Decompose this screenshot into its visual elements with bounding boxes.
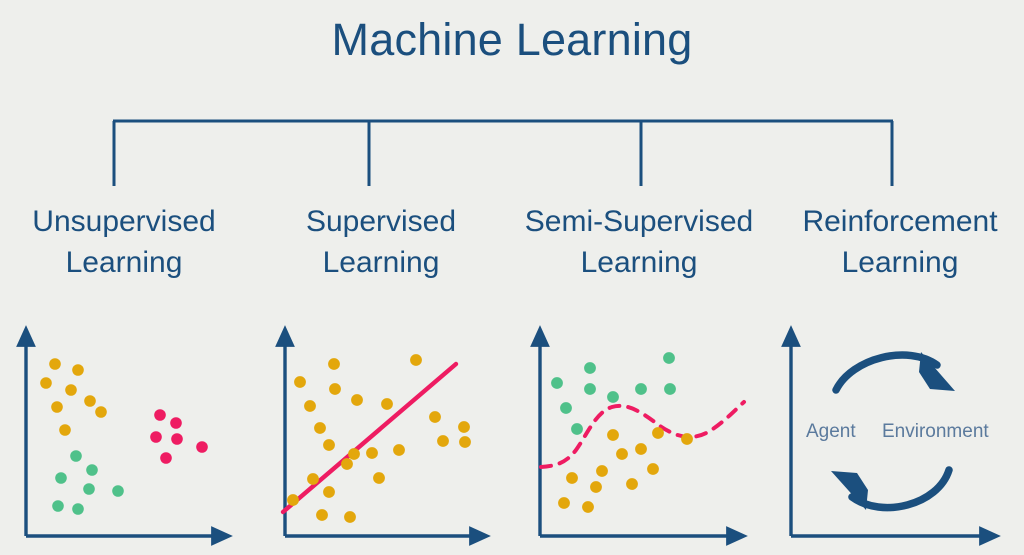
cycle-arrow-top [836, 352, 955, 391]
regression-points [287, 354, 471, 523]
semi-points-green [551, 352, 676, 435]
agent-label: Agent [806, 421, 856, 442]
semi-axes [540, 336, 737, 536]
chart-clustering [26, 336, 222, 536]
clustering-points-pink [150, 409, 208, 464]
semi-boundary-curve [541, 402, 744, 467]
clustering-points-orange [40, 358, 107, 436]
semi-points-orange [558, 427, 693, 513]
environment-label: Environment [882, 421, 989, 442]
illustrations-layer: Agent Environment [0, 0, 1024, 555]
regression-trend-line [283, 364, 456, 512]
cycle-arrow-bottom [831, 470, 949, 510]
clustering-points-green [52, 450, 124, 515]
chart-semi-supervised [540, 336, 744, 536]
chart-regression [283, 336, 480, 536]
diagram-canvas: Machine Learning Unsupervised Learning S… [0, 0, 1024, 555]
chart-reinforcement: Agent Environment [791, 336, 990, 536]
